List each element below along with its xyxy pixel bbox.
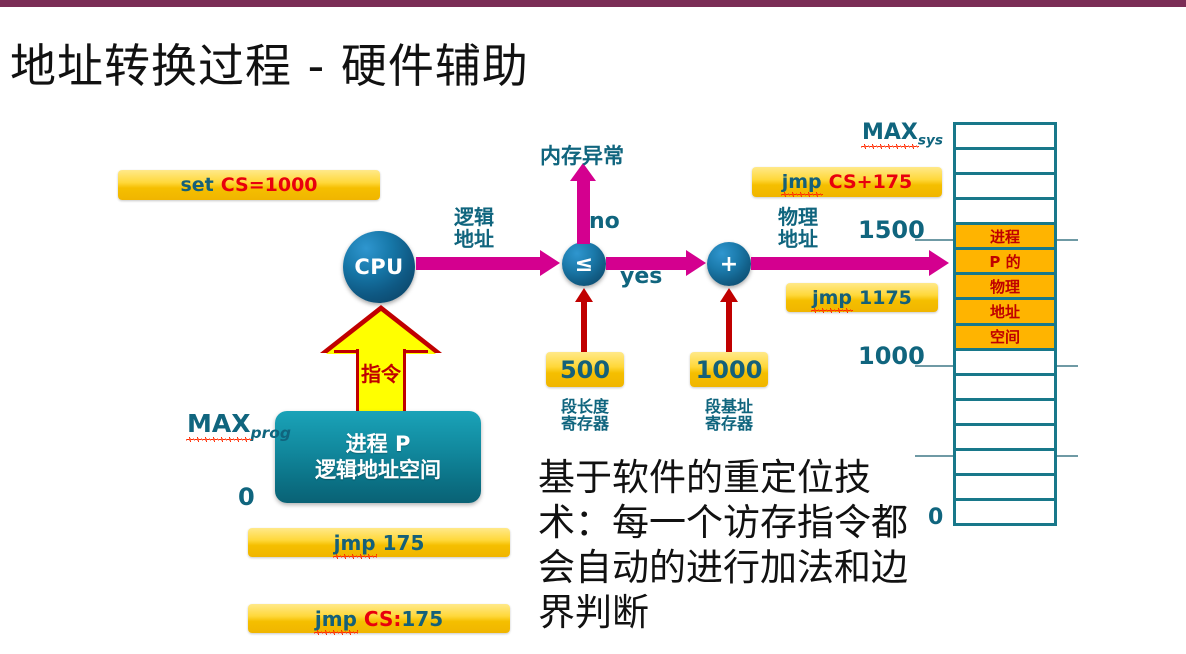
memory-cell-free (956, 351, 1054, 376)
physical-memory-column: 进程P 的物理地址空间 (953, 122, 1057, 526)
code-operand: 1175 (859, 287, 912, 309)
limit-register-label: 段长度 寄存器 (549, 398, 621, 433)
logical-address-line1: 逻辑 (454, 207, 494, 229)
instruction-fetch-arrow: 指令 (320, 305, 442, 415)
code-operand: CS+175 (829, 171, 913, 193)
arrow-head-fill (326, 311, 436, 354)
instruction-label: 指令 (320, 358, 442, 387)
physical-address-line2: 地址 (778, 229, 818, 251)
arrow-limit-register-head (575, 288, 593, 302)
arrow-base-register-shaft (726, 300, 732, 352)
memory-cell-occupied: 空间 (956, 326, 1054, 351)
limit-register-value: 500 (560, 356, 610, 384)
code-box-jmp-cs-plus-175[interactable]: jmp CS+175 (752, 167, 942, 197)
slide-canvas: 地址转换过程 - 硬件辅助 set CS=1000 jmp CS+175 jmp… (0, 0, 1186, 654)
memory-cell-free (956, 200, 1054, 225)
no-label: no (589, 210, 620, 234)
base-register-label: 段基址 寄存器 (693, 398, 765, 433)
arrow-wing-right (406, 350, 428, 353)
process-max-subscript: prog (251, 424, 291, 442)
memory-cell-free (956, 426, 1054, 451)
arrow-yes-branch-head (686, 250, 706, 276)
code-operand: CS=1000 (221, 174, 318, 196)
summary-paragraph: 基于软件的重定位技术：每一个访存指令都会自动的进行加法和边界判断 (538, 455, 938, 636)
memory-max-label: MAXsys (862, 120, 943, 148)
process-box-line2: 逻辑地址空间 (315, 457, 441, 483)
memory-cell-free (956, 401, 1054, 426)
code-box-jmp-cs-175[interactable]: jmp CS: 175 (248, 604, 510, 633)
limit-register-box[interactable]: 500 (546, 352, 624, 387)
memory-cell-free (956, 150, 1054, 175)
process-max-text: MAX (187, 409, 251, 438)
code-keyword: jmp (782, 171, 822, 193)
memory-cell-occupied: 进程 (956, 225, 1054, 250)
memory-cell-occupied: 物理 (956, 275, 1054, 300)
arrow-to-memory-head (929, 250, 949, 276)
code-keyword: jmp (315, 607, 357, 631)
limit-register-label-line2: 寄存器 (549, 415, 621, 432)
physical-address-label: 物理 地址 (778, 207, 818, 250)
memory-cell-occupied: 地址 (956, 300, 1054, 325)
base-register-box[interactable]: 1000 (690, 352, 768, 387)
arrow-to-memory-shaft (751, 257, 931, 270)
yes-label: yes (620, 265, 662, 289)
process-box-line1: 进程 P (346, 431, 411, 457)
arrow-base-register-head (720, 288, 738, 302)
code-box-set-cs[interactable]: set CS=1000 (118, 170, 380, 200)
code-keyword: jmp (334, 531, 376, 555)
process-min-label: 0 (238, 483, 255, 511)
logical-address-label: 逻辑 地址 (454, 207, 494, 250)
arrow-wing-left (334, 350, 356, 353)
memory-cell-free (956, 476, 1054, 501)
code-keyword: jmp (812, 287, 852, 309)
adder-node[interactable]: + (707, 242, 751, 286)
process-logical-space-box[interactable]: 进程 P 逻辑地址空间 (275, 411, 481, 503)
memory-cell-free (956, 175, 1054, 200)
cpu-node[interactable]: CPU (343, 231, 415, 303)
arrow-cpu-to-compare-head (540, 250, 560, 276)
base-register-label-line2: 寄存器 (693, 415, 765, 432)
limit-register-label-line1: 段长度 (549, 398, 621, 415)
memory-exception-label: 内存异常 (540, 145, 624, 168)
base-register-value: 1000 (696, 356, 763, 384)
memory-max-text: MAX (862, 120, 918, 145)
code-segment: CS: (364, 607, 401, 631)
code-box-jmp-175[interactable]: jmp 175 (248, 528, 510, 557)
code-box-jmp-1175[interactable]: jmp 1175 (786, 283, 938, 312)
code-keyword: set (180, 174, 213, 196)
code-operand: 175 (383, 531, 425, 555)
memory-cell-free (956, 501, 1054, 523)
page-title: 地址转换过程 - 硬件辅助 (10, 30, 529, 96)
memory-cell-free (956, 451, 1054, 476)
logical-address-line2: 地址 (454, 229, 494, 251)
memory-cell-occupied: P 的 (956, 250, 1054, 275)
bounds-check-node[interactable]: ≤ (562, 242, 606, 286)
memory-max-subscript: sys (918, 132, 943, 148)
tick-label-1500: 1500 (858, 216, 925, 244)
arrow-cpu-to-compare-shaft (416, 257, 542, 270)
arrow-limit-register-shaft (581, 300, 587, 352)
memory-cell-free (956, 376, 1054, 401)
process-max-label: MAXprog (187, 409, 291, 442)
tick-label-1000: 1000 (858, 342, 925, 370)
accent-top-bar (0, 0, 1186, 7)
code-offset: 175 (401, 607, 443, 631)
memory-cell-free (956, 125, 1054, 150)
physical-address-line1: 物理 (778, 207, 818, 229)
base-register-label-line1: 段基址 (693, 398, 765, 415)
